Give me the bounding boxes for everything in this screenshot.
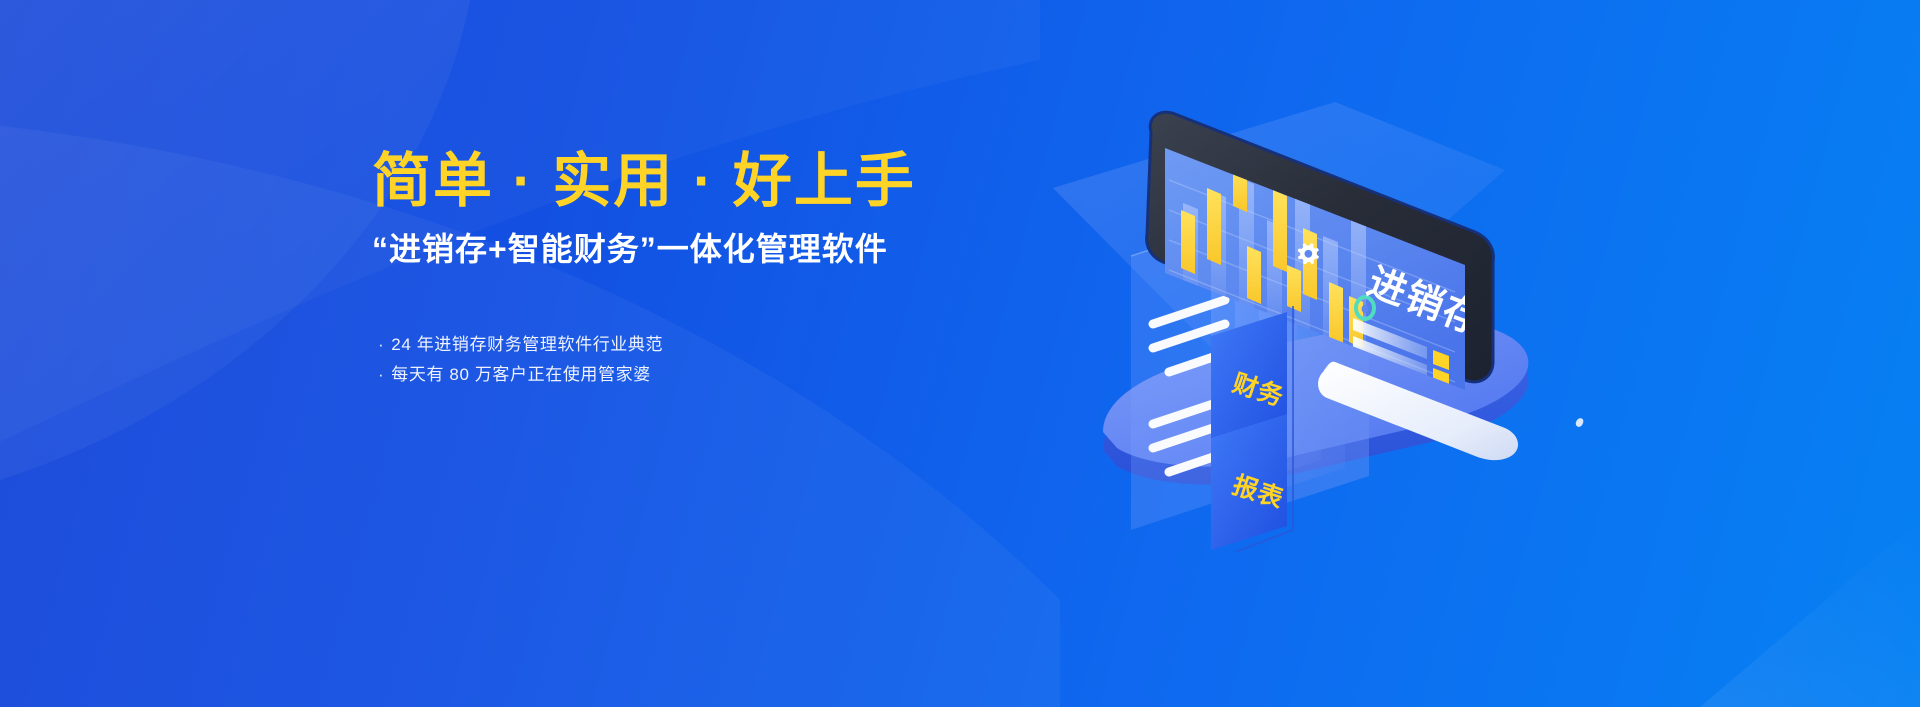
- subheadline: “进销存+智能财务”一体化管理软件: [372, 230, 1072, 268]
- list-item: ·每天有 80 万客户正在使用管家婆: [378, 360, 1072, 390]
- list-item: ·24 年进销存财务管理软件行业典范: [378, 330, 1072, 360]
- bar-4: [1247, 246, 1261, 304]
- headline: 简单 · 实用 · 好上手: [372, 150, 1072, 214]
- bg-arc-bottom-right: [1700, 520, 1920, 707]
- promo-banner: 简单 · 实用 · 好上手 “进销存+智能财务”一体化管理软件 ·24 年进销存…: [0, 0, 1920, 707]
- bar-6: [1287, 265, 1301, 312]
- bar-5: [1273, 190, 1287, 272]
- isometric-illustration: 进销存 财务 报: [1035, 60, 1595, 620]
- list-item-label: 每天有 80 万客户正在使用管家婆: [391, 365, 651, 384]
- feature-card-report: 报表: [1211, 414, 1287, 550]
- bar-1: [1181, 210, 1195, 274]
- bar-2: [1207, 188, 1221, 265]
- list-item-label: 24 年进销存财务管理软件行业典范: [391, 335, 663, 354]
- bar-8: [1329, 282, 1343, 343]
- bullet-dot-icon: ·: [378, 335, 384, 354]
- feature-list: ·24 年进销存财务管理软件行业典范 ·每天有 80 万客户正在使用管家婆: [378, 330, 1072, 390]
- bullet-dot-icon: ·: [378, 365, 384, 384]
- copy-block: 简单 · 实用 · 好上手 “进销存+智能财务”一体化管理软件 ·24 年进销存…: [372, 150, 1072, 390]
